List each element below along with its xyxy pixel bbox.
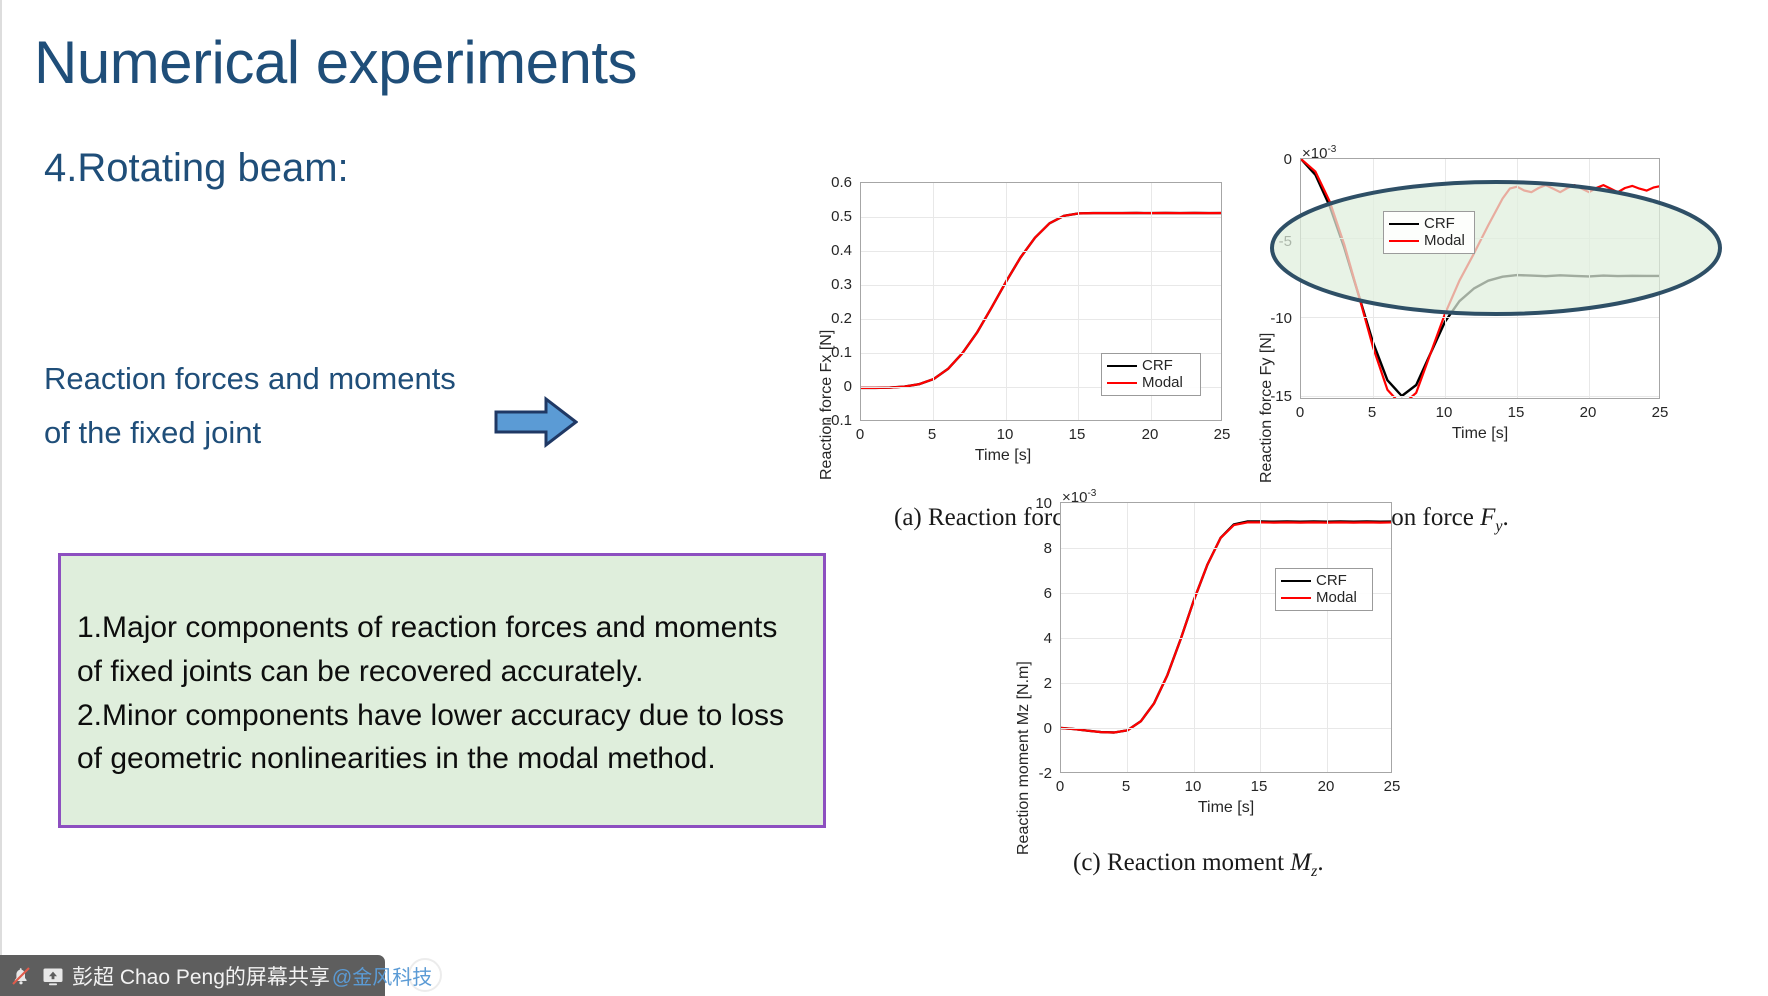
chart-b-xtick: 20 (1572, 404, 1604, 421)
chart-c-ytick: 8 (1000, 540, 1052, 557)
conclusion-line-3: 2.Minor components have lower accuracy d… (77, 694, 813, 738)
legend-item-modal: Modal (1389, 232, 1468, 249)
chart-c-xtick: 20 (1310, 778, 1342, 795)
chart-a-xtick: 15 (1061, 426, 1093, 443)
conclusion-line-2: of fixed joints can be recovered accurat… (77, 650, 813, 694)
legend-label-crf: CRF (1142, 358, 1173, 373)
legend-label-modal: Modal (1316, 590, 1357, 605)
chart-a-ytick: 0.5 (800, 208, 852, 225)
chart-a-ytick: 0.2 (800, 310, 852, 327)
screen-share-toolbar[interactable]: 彭超 Chao Peng的屏幕共享 @金风科技 (0, 955, 385, 996)
chart-b-xtick: 10 (1428, 404, 1460, 421)
chart-a-ytick: 0.4 (800, 242, 852, 259)
chart-c-ytick: 10 (1000, 495, 1052, 512)
chart-a-ytick: 0 (800, 378, 852, 395)
figure-panel-a: Reaction force Fx [N] 0.6 0.5 0.4 0.3 0.… (800, 150, 1240, 450)
subject-line-1: Reaction forces and moments (44, 352, 564, 406)
chart-c-xtick: 5 (1110, 778, 1142, 795)
share-org-label: @金风科技 (332, 961, 432, 990)
right-arrow-icon (494, 394, 578, 450)
legend-line-crf (1107, 365, 1137, 367)
legend-line-modal (1389, 240, 1419, 242)
legend-item-crf: CRF (1389, 215, 1468, 232)
slide-left-edge-line (0, 0, 2, 955)
caption-b-subscript: y (1495, 518, 1502, 535)
conclusions-callout: 1.Major components of reaction forces an… (58, 553, 826, 828)
chart-c-ytick: 4 (1000, 630, 1052, 647)
bell-muted-icon[interactable] (8, 963, 34, 989)
chart-c-ytick: 2 (1000, 675, 1052, 692)
legend-line-crf (1389, 223, 1419, 225)
chart-b-ytick: -15 (1240, 388, 1292, 405)
caption-c-prefix: (c) Reaction moment (1073, 849, 1290, 876)
caption-figure-c: (c) Reaction moment Mz. (1073, 849, 1324, 881)
legend-item-modal: Modal (1107, 374, 1194, 391)
caption-c-symbol: M (1290, 849, 1311, 876)
chart-c-xtick: 25 (1376, 778, 1408, 795)
chart-a-ytick: 0.6 (800, 174, 852, 191)
slide-canvas: Numerical experiments 4.Rotating beam: R… (0, 0, 1768, 996)
legend-item-crf: CRF (1107, 357, 1194, 374)
chart-b-xtick: 15 (1500, 404, 1532, 421)
legend-label-crf: CRF (1424, 216, 1455, 231)
chart-b-xtick: 5 (1356, 404, 1388, 421)
chart-b-xtick: 0 (1284, 404, 1316, 421)
chart-c-xtick: 15 (1243, 778, 1275, 795)
conclusions-text: 1.Major components of reaction forces an… (77, 606, 813, 781)
chart-c-ytick: 6 (1000, 585, 1052, 602)
chart-b-xtick: 25 (1644, 404, 1676, 421)
chart-a-ytick: 0.1 (800, 344, 852, 361)
chart-a-xtick: 0 (844, 426, 876, 443)
share-status-text: 彭超 Chao Peng的屏幕共享 (72, 961, 330, 991)
section-heading: 4.Rotating beam: (44, 146, 349, 191)
legend-label-crf: CRF (1316, 573, 1347, 588)
figure-panel-c: Reaction moment Mz [N.m] ×10-3 10 8 6 4 … (1000, 485, 1460, 795)
chart-c-plot-area: CRF Modal (1060, 502, 1392, 773)
legend-label-modal: Modal (1424, 233, 1465, 248)
chart-c-legend: CRF Modal (1275, 568, 1373, 611)
conclusion-line-1: 1.Major components of reaction forces an… (77, 606, 813, 650)
legend-line-modal (1281, 597, 1311, 599)
caption-b-symbol: F (1480, 504, 1495, 531)
chart-a-ytick: 0.3 (800, 276, 852, 293)
chart-c-xtick: 10 (1177, 778, 1209, 795)
legend-item-crf: CRF (1281, 572, 1366, 589)
chart-a-xlabel: Time [s] (975, 447, 1031, 465)
chart-a-xtick: 25 (1206, 426, 1238, 443)
legend-item-modal: Modal (1281, 589, 1366, 606)
chart-a-xtick: 20 (1134, 426, 1166, 443)
chart-b-legend: CRF Modal (1383, 211, 1475, 254)
chart-a-xtick: 10 (989, 426, 1021, 443)
chart-a-legend: CRF Modal (1101, 353, 1201, 396)
caption-b-suffix: . (1503, 504, 1509, 531)
chart-c-xtick: 0 (1044, 778, 1076, 795)
highlight-ellipse (1268, 178, 1728, 318)
chart-a-plot-area: CRF Modal (860, 182, 1222, 421)
legend-line-crf (1281, 580, 1311, 582)
chart-b-xlabel: Time [s] (1452, 425, 1508, 443)
chart-b-ytick: 0 (1240, 151, 1292, 168)
conclusion-line-4: of geometric nonlinearities in the modal… (77, 737, 813, 781)
screen-share-icon[interactable] (40, 963, 66, 989)
caption-c-suffix: . (1317, 849, 1323, 876)
chart-c-xlabel: Time [s] (1198, 799, 1254, 817)
legend-line-modal (1107, 382, 1137, 384)
page-title: Numerical experiments (34, 31, 637, 94)
chart-b-ylabel: Reaction force Fy [N] (1258, 333, 1276, 483)
chart-c-ytick: 0 (1000, 720, 1052, 737)
subject-description: Reaction forces and moments of the fixed… (44, 352, 564, 461)
subject-line-2: of the fixed joint (44, 406, 564, 460)
legend-label-modal: Modal (1142, 375, 1183, 390)
chart-a-xtick: 5 (916, 426, 948, 443)
